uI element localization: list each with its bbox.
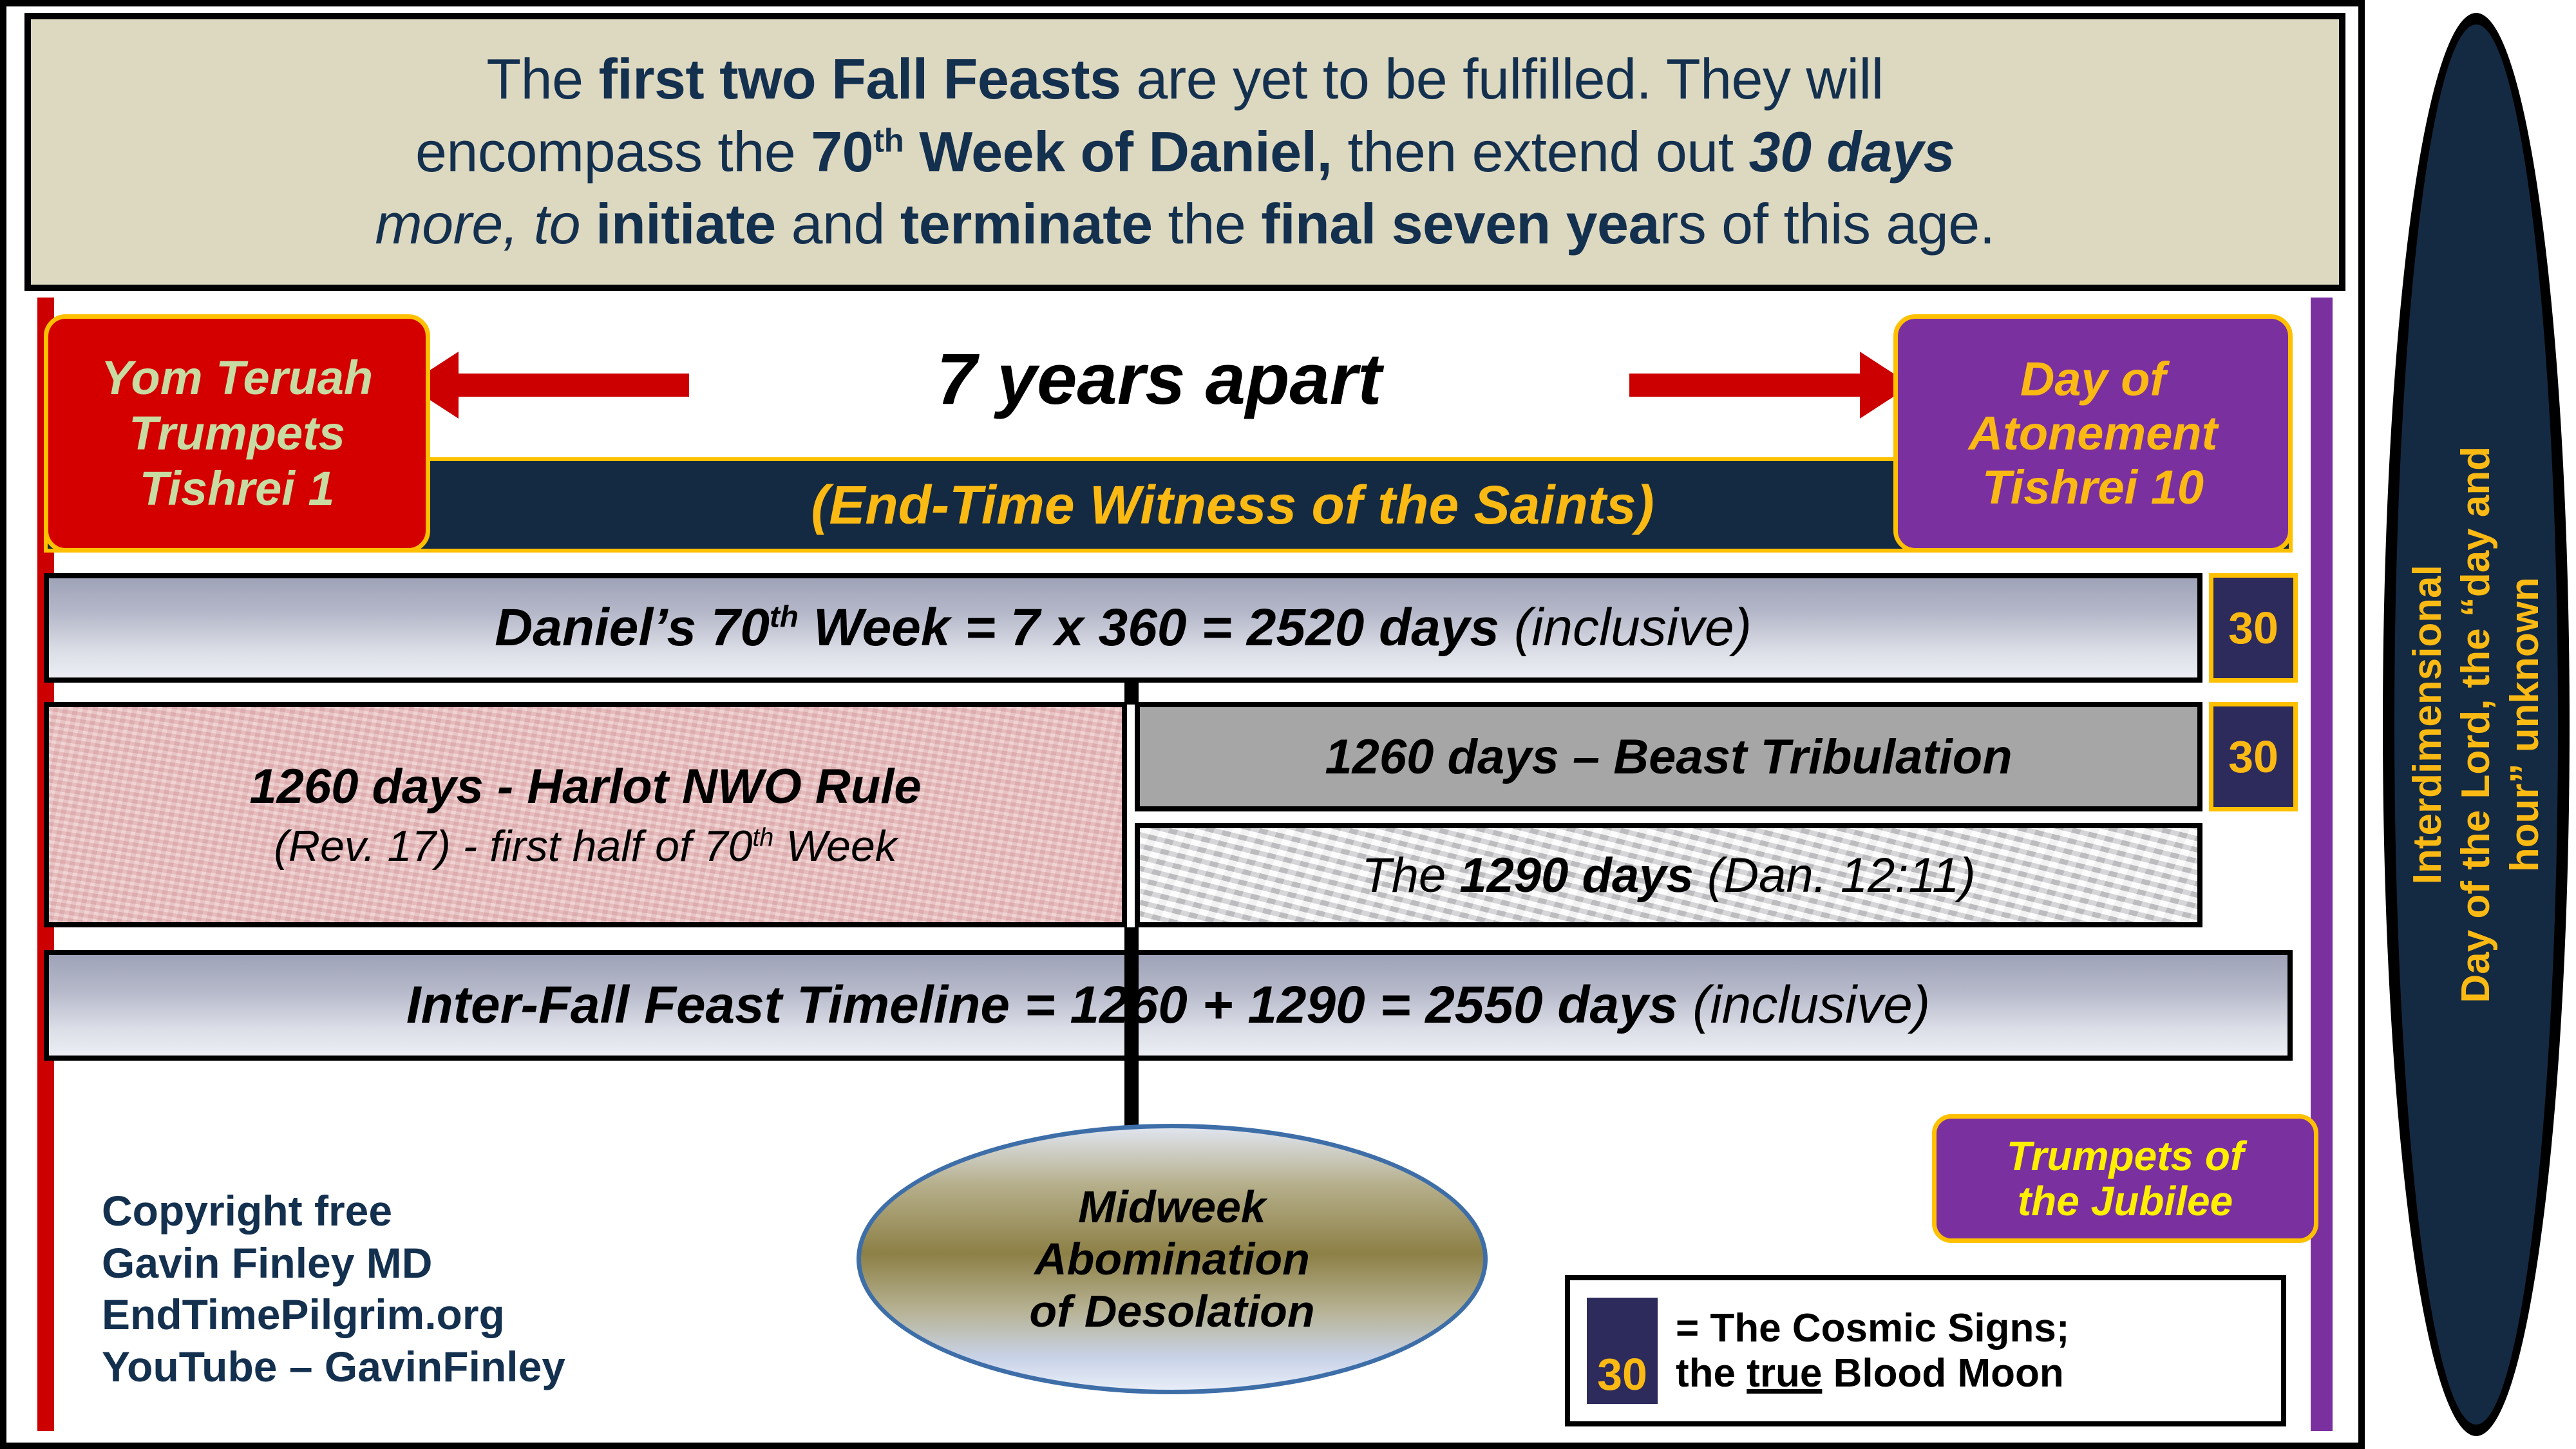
daniel-part-a: Daniel’s 70 <box>495 598 770 657</box>
yom-teruah-line2: Trumpets <box>129 408 345 459</box>
header-line2-bold-week: Week of Daniel, <box>904 120 1332 184</box>
seven-years-apart-row: 7 years apart <box>419 314 1900 443</box>
interfall-main: Inter-Fall Feast Timeline = 1260 + 1290 … <box>406 976 1692 1034</box>
harlot-nwo-rule-box: 1260 days - Harlot NWO Rule (Rev. 17) - … <box>44 702 1127 927</box>
harlot-line2-b: Week <box>773 822 896 871</box>
midweek-abomination-ellipse: Midweek Abomination of Desolation <box>857 1124 1488 1394</box>
day-of-the-lord-text: Interdimensional Day of the Lord, the “d… <box>2405 446 2547 1003</box>
midweek-tick-lower <box>1124 927 1139 1133</box>
harlot-line1: 1260 days - Harlot NWO Rule <box>249 759 921 815</box>
header-line1-part2: are yet to be fulfilled. They will <box>1121 47 1884 111</box>
yom-teruah-box[interactable]: Yom Teruah Trumpets Tishrei 1 <box>44 314 430 553</box>
legend-line2: the true Blood Moon <box>1676 1351 2070 1396</box>
jubilee-line1: Trumpets of <box>2007 1133 2244 1179</box>
header-line2-bold70: 70 <box>811 120 873 184</box>
daniel-superscript: th <box>770 600 799 634</box>
legend-box: 30 = The Cosmic Signs; the true Blood Mo… <box>1565 1275 2286 1426</box>
copyright-line3[interactable]: EndTimePilgrim.org <box>102 1289 810 1341</box>
daniel-70th-week-label: Daniel’s 70th Week = 7 x 360 = 2520 days… <box>495 598 1752 658</box>
yom-teruah-line1: Yom Teruah <box>101 352 373 404</box>
header-line3-the: the <box>1153 192 1262 256</box>
header-line3-initiate: initiate <box>580 192 791 256</box>
right-purple-rail <box>2311 298 2333 1431</box>
seven-years-apart-label: 7 years apart <box>911 337 1407 421</box>
header-line2-superscript: th <box>873 122 904 158</box>
beast-tribulation-box: 1260 days – Beast Tribulation <box>1135 702 2202 811</box>
legend-thirty-swatch: 30 <box>1587 1298 1658 1404</box>
legend-line2-true: true <box>1747 1351 1822 1396</box>
copyright-line2: Gavin Finley MD <box>102 1237 810 1289</box>
midweek-line3: of Desolation <box>1029 1287 1314 1336</box>
inter-fall-feast-label: Inter-Fall Feast Timeline = 1260 + 1290 … <box>406 975 1930 1036</box>
dotl-line3: hour” unknown <box>2503 577 2547 872</box>
header-line1-part1: The <box>486 47 598 111</box>
header-line3-tail: rs of this age. <box>1660 192 1995 256</box>
midweek-line1: Midweek <box>1078 1182 1266 1232</box>
header-line3-terminate: terminate <box>900 192 1153 256</box>
midweek-tick-upper <box>1124 683 1139 705</box>
twelve-ninety-days-label: The 1290 days (Dan. 12:11) <box>1361 848 1975 904</box>
header-banner: The first two Fall Feasts are yet to be … <box>24 13 2345 291</box>
header-line3-italic: more, to <box>375 192 580 256</box>
copyright-block: Copyright free Gavin Finley MD EndTimePi… <box>102 1185 810 1392</box>
daniel-70th-week-bar: Daniel’s 70th Week = 7 x 360 = 2520 days… <box>44 573 2202 683</box>
day-of-the-lord-ellipse: Interdimensional Day of the Lord, the “d… <box>2383 13 2570 1436</box>
copyright-line1: Copyright free <box>102 1185 810 1237</box>
d1290-b: 1290 days <box>1459 848 1693 903</box>
harlot-line2-a: (Rev. 17) - first half of 70 <box>274 822 752 871</box>
harlot-line2: (Rev. 17) - first half of 70th Week <box>274 821 897 871</box>
copyright-line4[interactable]: YouTube – GavinFinley <box>102 1341 810 1393</box>
legend-text: = The Cosmic Signs; the true Blood Moon <box>1676 1306 2070 1396</box>
timeline-diagram: The first two Fall Feasts are yet to be … <box>0 0 2365 1449</box>
legend-line2-a: the <box>1676 1351 1747 1396</box>
harlot-line2-superscript: th <box>752 823 773 851</box>
header-line3-and: and <box>791 192 900 256</box>
yom-teruah-line3: Tishrei 1 <box>139 463 334 515</box>
header-line3-final-seven: final seven yea <box>1261 192 1660 256</box>
header-line2-part2: then extend out <box>1332 120 1749 184</box>
twelve-ninety-days-box: The 1290 days (Dan. 12:11) <box>1135 823 2202 927</box>
daniel-part-c: (inclusive) <box>1514 598 1752 657</box>
thirty-days-box-top: 30 <box>2209 573 2298 683</box>
end-time-witness-label: (End-Time Witness of the Saints) <box>682 474 1654 536</box>
arrow-right-shaft <box>1629 374 1874 397</box>
trumpets-of-the-jubilee-box[interactable]: Trumpets of the Jubilee <box>1932 1114 2318 1243</box>
midweek-line2: Abomination <box>1034 1235 1310 1284</box>
header-line1-bold: first two Fall Feasts <box>598 47 1121 111</box>
arrow-left-shaft <box>444 374 689 397</box>
day-of-atonement-box[interactable]: Day of Atonement Tishrei 10 <box>1893 314 2293 553</box>
header-text: The first two Fall Feasts are yet to be … <box>375 43 1994 261</box>
dotl-line2: Day of the Lord, the “day and <box>2454 446 2498 1003</box>
daniel-part-b: Week = 7 x 360 = 2520 days <box>799 598 1514 657</box>
dotl-line1: Interdimensional <box>2405 565 2450 884</box>
interfall-suffix: (inclusive) <box>1692 976 1930 1034</box>
atonement-line2: Atonement <box>1969 408 2217 459</box>
atonement-line1: Day of <box>2020 354 2166 405</box>
d1290-c: (Dan. 12:11) <box>1694 848 1976 903</box>
inter-fall-feast-timeline-bar: Inter-Fall Feast Timeline = 1260 + 1290 … <box>44 950 2293 1061</box>
legend-line2-c: Blood Moon <box>1822 1351 2063 1396</box>
jubilee-line2: the Jubilee <box>2018 1179 2233 1224</box>
atonement-line3: Tishrei 10 <box>1982 462 2204 513</box>
legend-line1: = The Cosmic Signs; <box>1676 1306 2070 1350</box>
beast-tribulation-label: 1260 days – Beast Tribulation <box>1325 729 2012 785</box>
header-line2-part1: encompass the <box>415 120 811 184</box>
d1290-a: The <box>1361 848 1459 903</box>
header-line2-bolditalic-30days: 30 days <box>1749 120 1955 184</box>
thirty-days-box-bottom: 30 <box>2209 702 2298 811</box>
